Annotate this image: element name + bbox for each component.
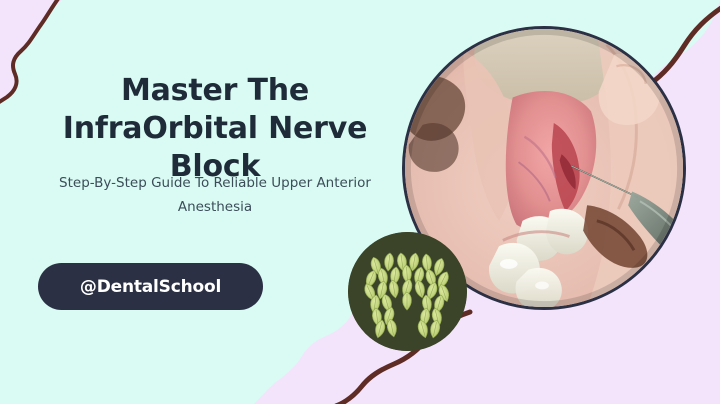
promo-graphic-canvas: Master The InfraOrbital Nerve Block Step…: [0, 0, 720, 404]
page-title: Master The InfraOrbital Nerve Block: [30, 72, 400, 185]
handle-badge[interactable]: @DentalSchool: [38, 263, 263, 310]
leaf-tooth-logo-mark: [348, 232, 467, 351]
page-subtitle: Step-By-Step Guide To Reliable Upper Ant…: [30, 172, 400, 219]
handle-badge-label: @DentalSchool: [80, 277, 221, 297]
leaf-tooth-logo: [348, 232, 467, 351]
